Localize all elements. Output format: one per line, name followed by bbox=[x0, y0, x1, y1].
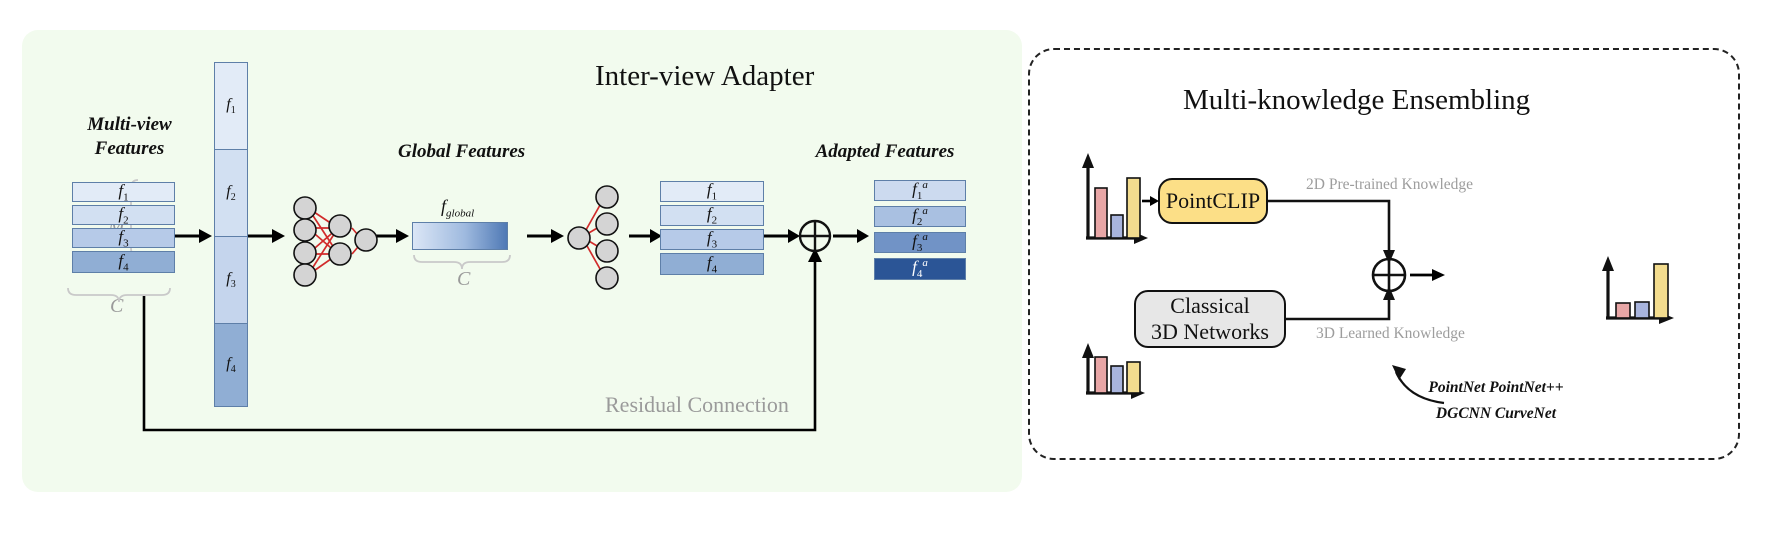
input-chart-bottom-bars bbox=[1095, 357, 1140, 393]
arrow-netlist-to-classical bbox=[1392, 365, 1444, 403]
edge-pointclip-to-sum bbox=[1268, 201, 1395, 264]
right-panel-connectors bbox=[0, 0, 1766, 550]
input-chart-top-bars bbox=[1095, 178, 1140, 238]
arrow-sum-to-output bbox=[1410, 269, 1445, 281]
output-chart-bars bbox=[1616, 264, 1668, 318]
ensemble-sum-icon bbox=[1373, 259, 1405, 291]
edge-classical-to-sum bbox=[1286, 286, 1395, 319]
arrow-chart-to-pointclip bbox=[1142, 196, 1159, 206]
